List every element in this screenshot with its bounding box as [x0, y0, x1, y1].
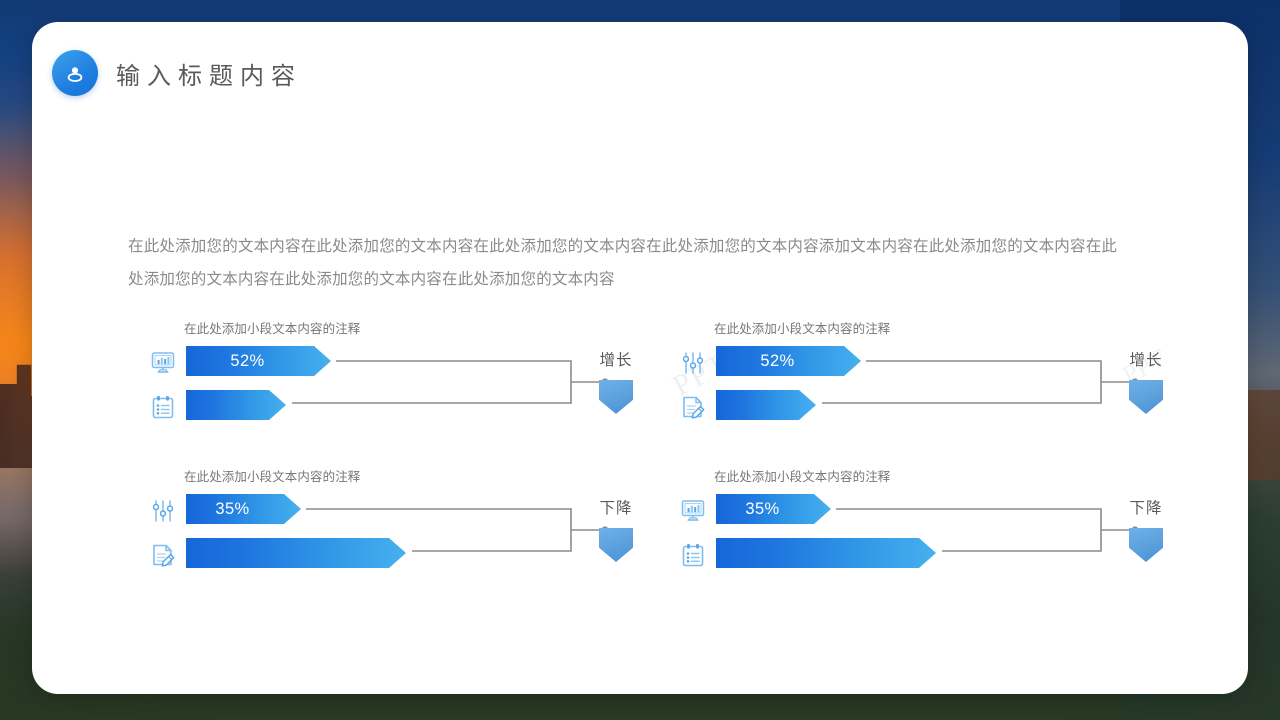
- bar-secondary[interactable]: [186, 390, 286, 420]
- shield-marker-icon: [1129, 528, 1163, 562]
- bar-list: 35%: [716, 494, 1116, 582]
- group-note: 在此处添加小段文本内容的注释: [714, 318, 1188, 337]
- trend-label: 下降: [1129, 496, 1162, 518]
- bar-list: 52%: [186, 346, 586, 434]
- stat-groups-row-bottom: 在此处添加小段文本内容的注释: [128, 466, 1188, 614]
- shield-marker-icon: [599, 380, 633, 414]
- trend-label: 增长: [599, 348, 632, 370]
- body-paragraph: 在此处添加您的文本内容在此处添加您的文本内容在此处添加您的文本内容在此处添加您的…: [128, 230, 1128, 296]
- document-edit-icon: [150, 542, 176, 568]
- trend-endcap: 下降: [1110, 496, 1182, 562]
- group-note: 在此处添加小段文本内容的注释: [184, 318, 658, 337]
- sliders-icon: [150, 498, 176, 524]
- icon-column: [680, 498, 710, 568]
- shield-marker-icon: [599, 528, 633, 562]
- group-note: 在此处添加小段文本内容的注释: [714, 466, 1188, 485]
- icon-column: [150, 498, 180, 568]
- bar-secondary[interactable]: [716, 538, 936, 568]
- bar-primary[interactable]: 35%: [716, 494, 831, 524]
- clipboard-list-icon: [680, 542, 706, 568]
- trend-label: 下降: [599, 496, 632, 518]
- shield-marker-icon: [1129, 380, 1163, 414]
- slide: 输入标题内容 在此处添加您的文本内容在此处添加您的文本内容在此处添加您的文本内容…: [0, 0, 1280, 720]
- monitor-chart-icon: [680, 498, 706, 524]
- trend-endcap: 增长: [580, 348, 652, 414]
- stat-group-top-left[interactable]: 在此处添加小段文本内容的注释: [128, 318, 658, 466]
- bar-secondary[interactable]: [186, 538, 406, 568]
- trend-endcap: 下降: [580, 496, 652, 562]
- trend-label: 增长: [1129, 348, 1162, 370]
- page-title: 输入标题内容: [116, 56, 302, 91]
- bar-value-label: 35%: [215, 500, 249, 519]
- content-card: 输入标题内容 在此处添加您的文本内容在此处添加您的文本内容在此处添加您的文本内容…: [32, 22, 1248, 694]
- bar-value-label: 52%: [760, 352, 794, 371]
- trend-endcap: 增长: [1110, 348, 1182, 414]
- stat-group-bottom-right[interactable]: 在此处添加小段文本内容的注释: [658, 466, 1188, 614]
- bar-primary[interactable]: 35%: [186, 494, 301, 524]
- bar-primary[interactable]: 52%: [716, 346, 861, 376]
- bar-primary[interactable]: 52%: [186, 346, 331, 376]
- document-edit-icon: [680, 394, 706, 420]
- stat-groups-row-top: 在此处添加小段文本内容的注释: [128, 318, 1188, 466]
- bar-secondary[interactable]: [716, 390, 816, 420]
- icon-column: [680, 350, 710, 420]
- monitor-chart-icon: [150, 350, 176, 376]
- stat-group-bottom-left[interactable]: 在此处添加小段文本内容的注释: [128, 466, 658, 614]
- person-location-pin-icon: [52, 50, 98, 96]
- icon-column: [150, 350, 180, 420]
- bar-list: 35%: [186, 494, 586, 582]
- group-note: 在此处添加小段文本内容的注释: [184, 466, 658, 485]
- clipboard-list-icon: [150, 394, 176, 420]
- bar-value-label: 52%: [230, 352, 264, 371]
- slide-header: 输入标题内容: [52, 50, 302, 96]
- stat-groups: 在此处添加小段文本内容的注释: [128, 318, 1188, 614]
- sliders-icon: [680, 350, 706, 376]
- bar-value-label: 35%: [745, 500, 779, 519]
- bar-list: 52%: [716, 346, 1116, 434]
- stat-group-top-right[interactable]: 在此处添加小段文本内容的注释: [658, 318, 1188, 466]
